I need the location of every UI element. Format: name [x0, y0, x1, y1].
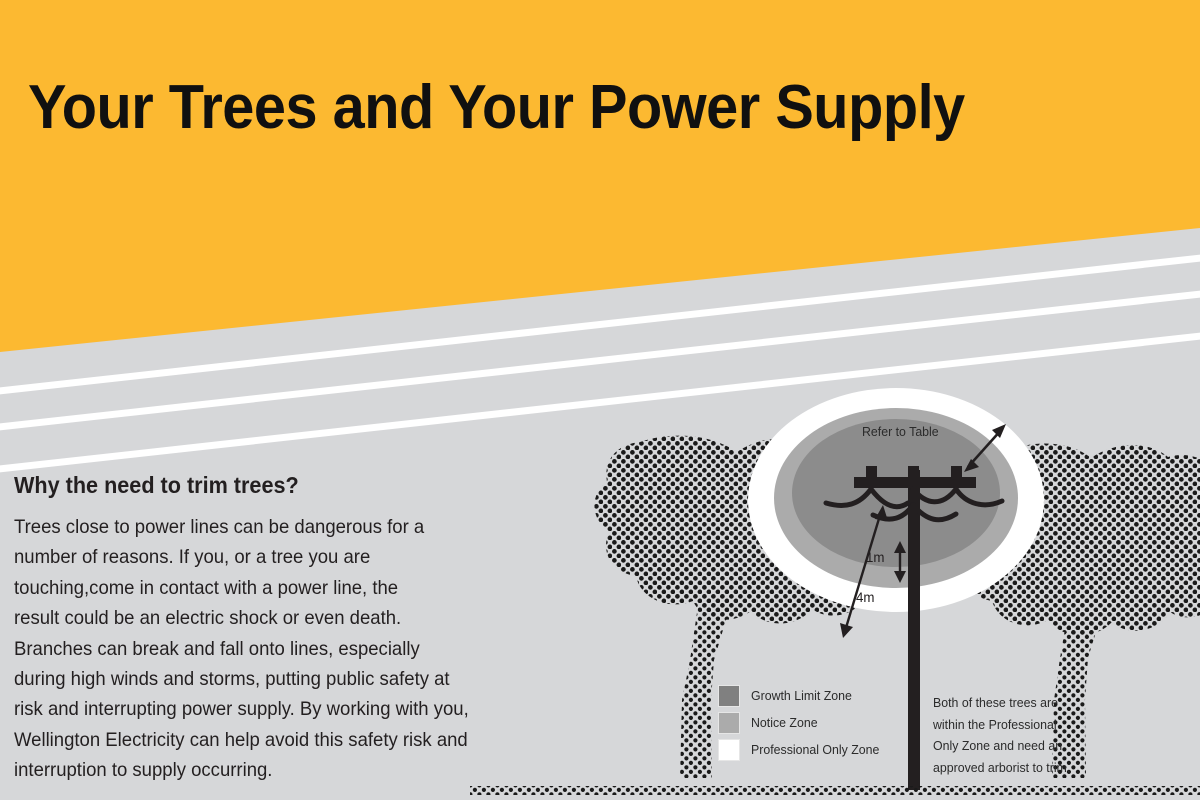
legend-item-growth-limit-zone: Growth Limit Zone: [718, 682, 898, 709]
poster-canvas: Your Trees and Your Power Supply Why the…: [0, 0, 1200, 800]
page-title: Your Trees and Your Power Supply: [28, 76, 1107, 140]
refer-to-table-label: Refer to Table: [862, 424, 939, 439]
zone-legend: Growth Limit Zone Notice Zone Profession…: [718, 682, 898, 763]
insulator-left: [866, 466, 877, 478]
professional-zone-measure-label: 4m: [856, 589, 874, 605]
legend-label-professional-only-zone: Professional Only Zone: [751, 742, 879, 757]
legend-swatch-professional-only-zone: [718, 739, 740, 761]
insulator-centre: [908, 466, 919, 478]
ground-line: [470, 786, 1200, 795]
insulator-right: [951, 466, 962, 478]
pole-mast: [908, 470, 920, 790]
legend-item-professional-only-zone: Professional Only Zone: [718, 736, 898, 763]
legend-label-notice-zone: Notice Zone: [751, 715, 818, 730]
legend-swatch-growth-limit-zone: [718, 685, 740, 707]
legend-item-notice-zone: Notice Zone: [718, 709, 898, 736]
pole-crossarm: [854, 477, 976, 488]
section-heading: Why the need to trim trees?: [14, 472, 503, 498]
notice-zone-measure-label: 1m: [866, 549, 884, 565]
body-copy: Trees close to power lines can be danger…: [14, 512, 556, 786]
legend-swatch-notice-zone: [718, 712, 740, 734]
tree-zone-note: Both of these trees are within the Profe…: [933, 692, 1104, 778]
legend-label-growth-limit-zone: Growth Limit Zone: [751, 688, 852, 703]
